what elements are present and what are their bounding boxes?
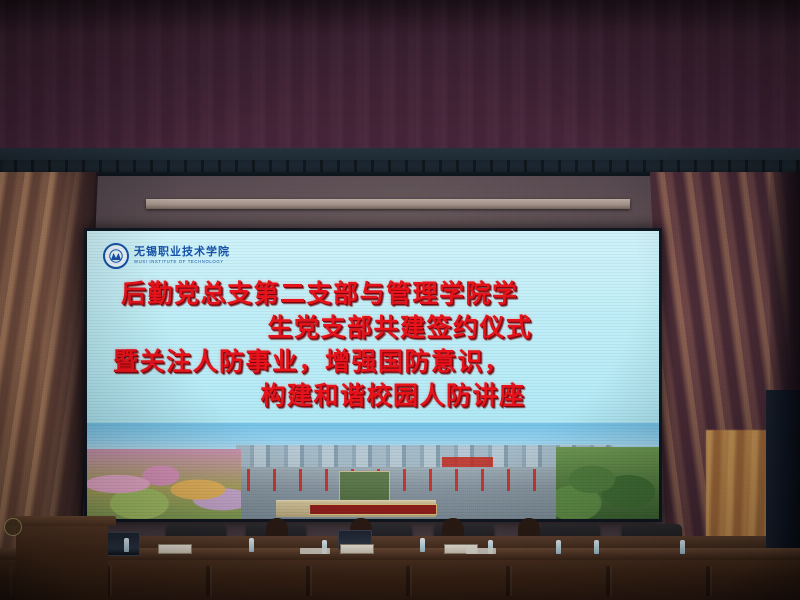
podium-top [8, 516, 116, 526]
banner-title-line-4: 构建和谐校园人防讲座 [103, 379, 643, 413]
right-curtain-shadow [770, 172, 800, 412]
photo-flag-row [247, 469, 556, 491]
water-bottle [556, 540, 561, 554]
documents [466, 548, 496, 554]
led-screen[interactable]: 无锡职业技术学院 WUXI INSTITUTE OF TECHNOLOGY 后勤… [84, 228, 662, 522]
banner-title: 后勤党总支第二支部与管理学院学 生党支部共建签约仪式 暨关注人防事业，增强国防意… [87, 277, 659, 445]
water-bottle [420, 538, 425, 552]
podium-emblem-icon [4, 518, 22, 536]
photo-trees-left [87, 449, 241, 519]
name-placard [158, 544, 192, 554]
stage-light-bar [146, 199, 630, 209]
university-name-en: WUXI INSTITUTE OF TECHNOLOGY [134, 260, 230, 264]
university-logo-text: 无锡职业技术学院 WUXI INSTITUTE OF TECHNOLOGY [134, 247, 230, 264]
university-crest-icon [103, 243, 129, 269]
banner-title-line-2: 生党支部共建签约仪式 [103, 311, 643, 345]
water-bottle [124, 538, 129, 552]
table-panel-seams [10, 566, 790, 596]
water-bottle [680, 540, 685, 554]
campus-panorama-photo [87, 423, 659, 519]
photo-trees-right [556, 447, 659, 519]
documents [300, 548, 330, 554]
university-name-cn: 无锡职业技术学院 [134, 247, 230, 258]
water-bottle [249, 538, 254, 552]
banner-title-line-3: 暨关注人防事业，增强国防意识， [103, 345, 643, 379]
banner-title-line-1: 后勤党总支第二支部与管理学院学 [103, 277, 643, 311]
name-placard [340, 544, 374, 554]
speaker-podium [16, 520, 108, 600]
water-bottle [594, 540, 599, 554]
photo-entrance-sign [309, 504, 437, 515]
university-logo: 无锡职业技术学院 WUXI INSTITUTE OF TECHNOLOGY [103, 243, 230, 269]
led-screen-content: 无锡职业技术学院 WUXI INSTITUTE OF TECHNOLOGY 后勤… [87, 231, 659, 519]
auditorium-scene: 无锡职业技术学院 WUXI INSTITUTE OF TECHNOLOGY 后勤… [0, 0, 800, 600]
